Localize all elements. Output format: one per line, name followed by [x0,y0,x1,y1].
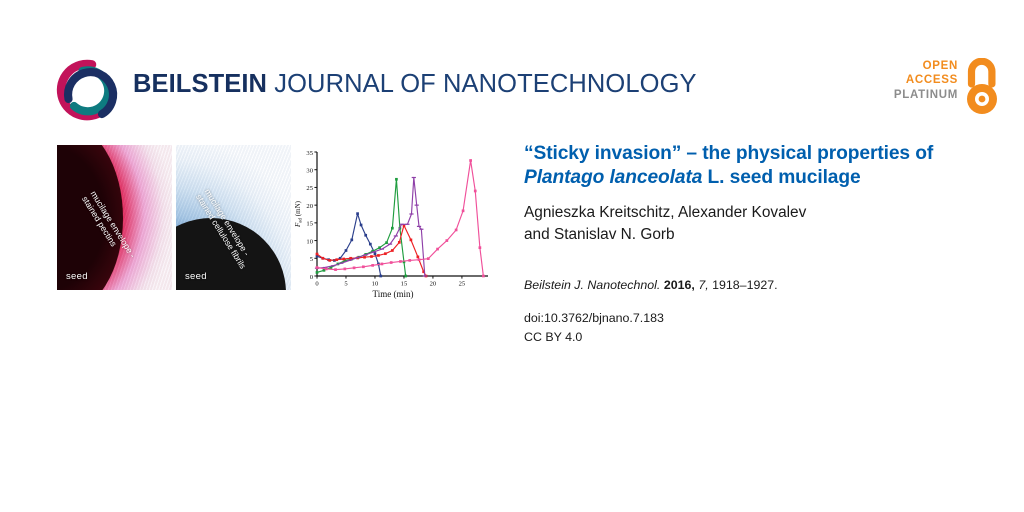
citation-pages: 1918–1927. [712,278,777,292]
svg-text:35: 35 [306,150,313,157]
citation-block: Beilstein J. Nanotechnol. 2016, 7, 1918–… [524,277,994,347]
svg-text:0: 0 [315,281,319,288]
oa-line-access: ACCESS [894,73,958,87]
svg-text:20: 20 [430,281,437,288]
figure-strip: mucilage envelope - stained pectins seed… [57,145,492,300]
micrograph-pectins-seed-label: seed [66,271,88,282]
article-authors: Agnieszka Kreitschitz, Alexander Kovalev… [524,202,994,246]
title-part-2: L. seed mucilage [702,167,860,188]
citation-line: Beilstein J. Nanotechnol. 2016, 7, 1918–… [524,277,994,294]
svg-text:0: 0 [310,274,314,281]
doi-text[interactable]: doi:10.3762/bjnano.7.183 [524,309,994,328]
wordmark-beilstein: BEILSTEIN [133,70,267,98]
citation-volume: 7, [698,278,708,292]
svg-text:15: 15 [306,221,313,228]
open-access-text: OPEN ACCESS PLATINUM [894,59,958,102]
open-access-badge: OPEN ACCESS PLATINUM [872,58,1002,120]
chart-series [315,159,485,277]
journal-wordmark: BEILSTEIN JOURNAL OF NANOTECHNOLOGY [133,70,697,99]
chart-y-axis-label: Fad (mN) [294,200,304,228]
micrograph-cellulose: mucilage envelope - stained cellulose fi… [176,145,291,290]
title-part-1: “Sticky invasion” – the physical propert… [524,143,933,164]
svg-text:30: 30 [306,168,313,175]
open-lock-icon [962,58,1002,116]
svg-text:25: 25 [306,185,313,192]
svg-text:10: 10 [306,238,313,245]
wordmark-journal-of-nanotechnology: JOURNAL OF NANOTECHNOLOGY [267,70,697,98]
oa-line-platinum: PLATINUM [894,88,958,102]
svg-text:Fad (mN): Fad (mN) [294,200,304,228]
micrograph-pectins: mucilage envelope - stained pectins seed [57,145,172,290]
svg-text:5: 5 [344,281,348,288]
citation-year: 2016, [664,278,695,292]
svg-text:10: 10 [372,281,379,288]
micrograph-cellulose-seed-label: seed [185,271,207,282]
oa-line-open: OPEN [894,59,958,73]
adhesion-force-chart: 051015202530350510152025 Time (min) Fad … [294,145,492,300]
svg-text:20: 20 [306,203,313,210]
page-header: BEILSTEIN JOURNAL OF NANOTECHNOLOGY OPEN… [0,0,1024,135]
svg-text:15: 15 [401,281,408,288]
svg-text:5: 5 [310,256,314,263]
title-species-name: Plantago lanceolata [524,167,702,188]
svg-text:25: 25 [459,281,466,288]
citation-journal: Beilstein J. Nanotechnol. [524,278,660,292]
doi-block: doi:10.3762/bjnano.7.183 CC BY 4.0 [524,309,994,346]
beilstein-circle-logo-icon [52,55,122,125]
article-title: “Sticky invasion” – the physical propert… [524,142,994,190]
license-text: CC BY 4.0 [524,328,994,347]
article-column: “Sticky invasion” – the physical propert… [524,142,994,346]
chart-x-axis-label: Time (min) [373,289,414,299]
